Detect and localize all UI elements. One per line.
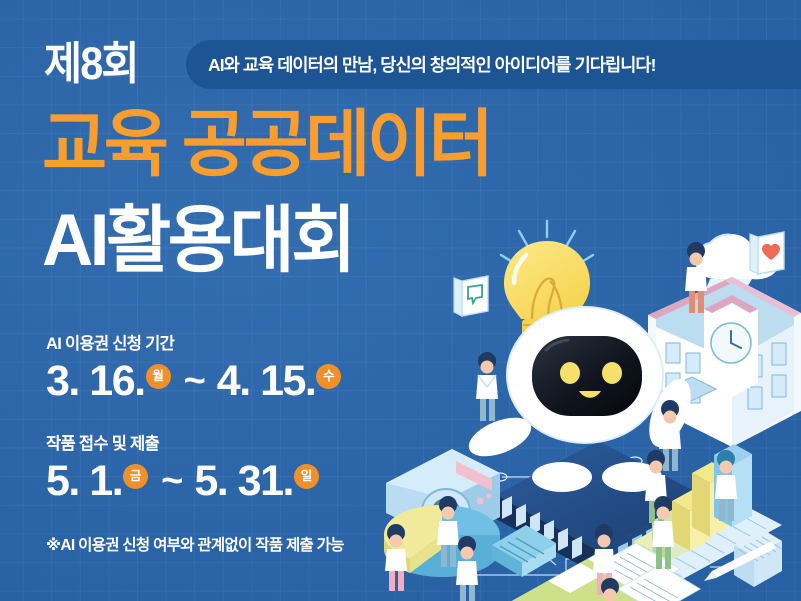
schedule-label: AI 이용권 신청 기간 xyxy=(46,330,341,354)
title-line-1: 교육 공공데이터 xyxy=(42,108,491,181)
schedule-block-submission: 작품 접수 및 제출 5. 1. 금 ~ 5. 31. 일 xyxy=(46,430,319,508)
schedule-label: 작품 접수 및 제출 xyxy=(46,430,319,454)
end-date: 5. 31. xyxy=(194,458,293,505)
end-day-badge: 일 xyxy=(294,464,319,489)
schedule-date-range: 3. 16. 월 ~ 4. 15. 수 xyxy=(46,358,341,408)
title-line-2: AI활용대회 xyxy=(42,204,353,277)
header-row: 제8회 xyxy=(44,34,146,92)
schedule-date-range: 5. 1. 금 ~ 5. 31. 일 xyxy=(46,458,319,508)
person-figure xyxy=(385,524,407,591)
range-separator: ~ xyxy=(184,358,206,405)
tagline-banner: AI와 교육 데이터의 만남, 당신의 창의적인 아이디어를 기다립니다! xyxy=(186,40,801,89)
footnote-text: ※AI 이용권 신청 여부와 관계없이 작품 제출 가능 xyxy=(46,533,344,555)
illustration-scene xyxy=(380,215,801,601)
end-date: 4. 15. xyxy=(217,358,316,405)
chat-book-icon xyxy=(454,276,488,316)
tagline-text: AI와 교육 데이터의 만남, 당신의 창의적인 아이디어를 기다립니다! xyxy=(208,52,656,77)
edition-label: 제8회 xyxy=(44,41,138,86)
person-figure xyxy=(476,352,498,421)
person-figure xyxy=(456,536,478,601)
start-date: 3. 16. xyxy=(46,358,145,405)
heart-book-icon xyxy=(750,232,784,274)
end-day-badge: 수 xyxy=(316,364,341,389)
start-day-badge: 월 xyxy=(146,364,171,389)
start-date: 5. 1. xyxy=(46,458,122,505)
range-separator: ~ xyxy=(161,458,183,505)
schedule-block-application: AI 이용권 신청 기간 3. 16. 월 ~ 4. 15. 수 xyxy=(46,330,341,408)
event-poster: 제8회 AI와 교육 데이터의 만남, 당신의 창의적인 아이디어를 기다립니다… xyxy=(0,0,801,601)
start-day-badge: 금 xyxy=(123,464,148,489)
